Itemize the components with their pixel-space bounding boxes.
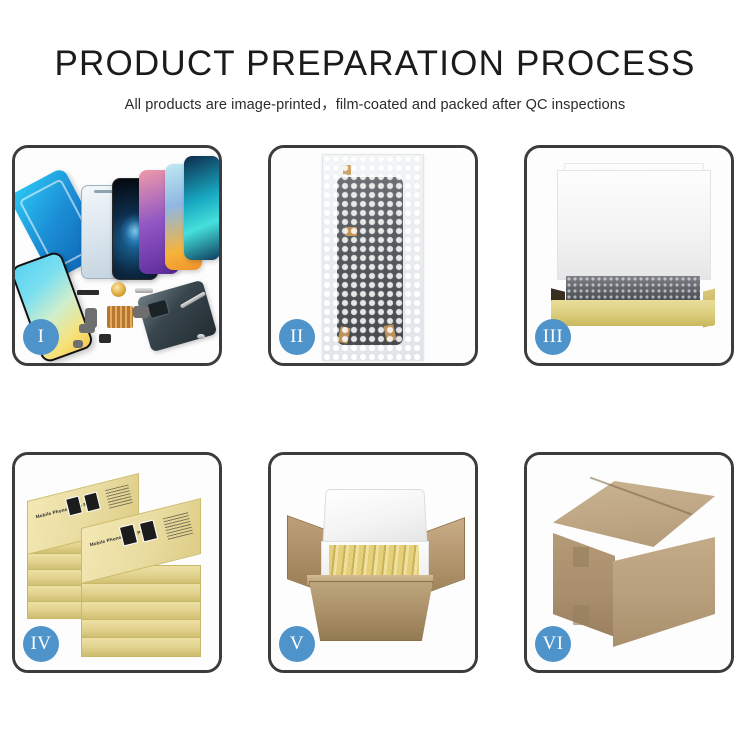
page-title: PRODUCT PREPARATION PROCESS — [0, 0, 750, 84]
step-badge: V — [279, 626, 315, 662]
flex-strip-graphic — [77, 290, 99, 295]
stacked-box — [81, 619, 201, 639]
phone-teal-graphic — [184, 156, 219, 260]
small-board-graphic — [133, 306, 149, 318]
bubble-texture-overlay — [323, 155, 423, 360]
step-badge: VI — [535, 626, 571, 662]
screw-graphic — [197, 334, 205, 339]
process-step-3[interactable]: III — [524, 145, 734, 366]
carton-right-face-graphic — [613, 537, 715, 647]
yellow-boxes-inside-graphic — [329, 545, 419, 579]
battery-tab-graphic — [99, 334, 111, 343]
process-row-2: Mobile Phone Spare Parts Mobile Phone Sp… — [12, 452, 738, 673]
stacked-box — [81, 601, 201, 621]
step-badge: IV — [23, 626, 59, 662]
stacked-box — [81, 583, 201, 603]
page-subtitle: All products are image-printed，film-coat… — [0, 84, 750, 114]
camera-module-graphic — [79, 324, 95, 333]
process-step-2[interactable]: II — [268, 145, 478, 366]
process-step-4[interactable]: Mobile Phone Spare Parts Mobile Phone Sp… — [12, 452, 222, 673]
step-badge: I — [23, 319, 59, 355]
page-header: PRODUCT PREPARATION PROCESS All products… — [0, 0, 750, 114]
bubble-bag-graphic — [322, 154, 424, 361]
box-front-panel-graphic — [551, 300, 715, 326]
speaker-part-graphic — [111, 282, 126, 297]
step-badge: II — [279, 319, 315, 355]
foam-box-lid-graphic — [322, 489, 427, 547]
step-badge: III — [535, 319, 571, 355]
process-step-6[interactable]: VI — [524, 452, 734, 673]
process-steps-grid: I II — [12, 145, 738, 673]
foam-padding-graphic — [557, 170, 711, 280]
carton-tape-lower-graphic — [573, 605, 589, 625]
product-preparation-process-page: PRODUCT PREPARATION PROCESS All products… — [0, 0, 750, 750]
connector-graphic — [135, 288, 153, 293]
carton-tape-upper-graphic — [573, 547, 589, 567]
sim-tray-graphic — [73, 340, 83, 348]
stacked-box — [81, 637, 201, 657]
process-step-5[interactable]: V — [268, 452, 478, 673]
chip-array-graphic — [107, 306, 133, 328]
carton-front-panel-graphic — [309, 581, 433, 641]
process-step-1[interactable]: I — [12, 145, 222, 366]
process-row-1: I II — [12, 145, 738, 366]
